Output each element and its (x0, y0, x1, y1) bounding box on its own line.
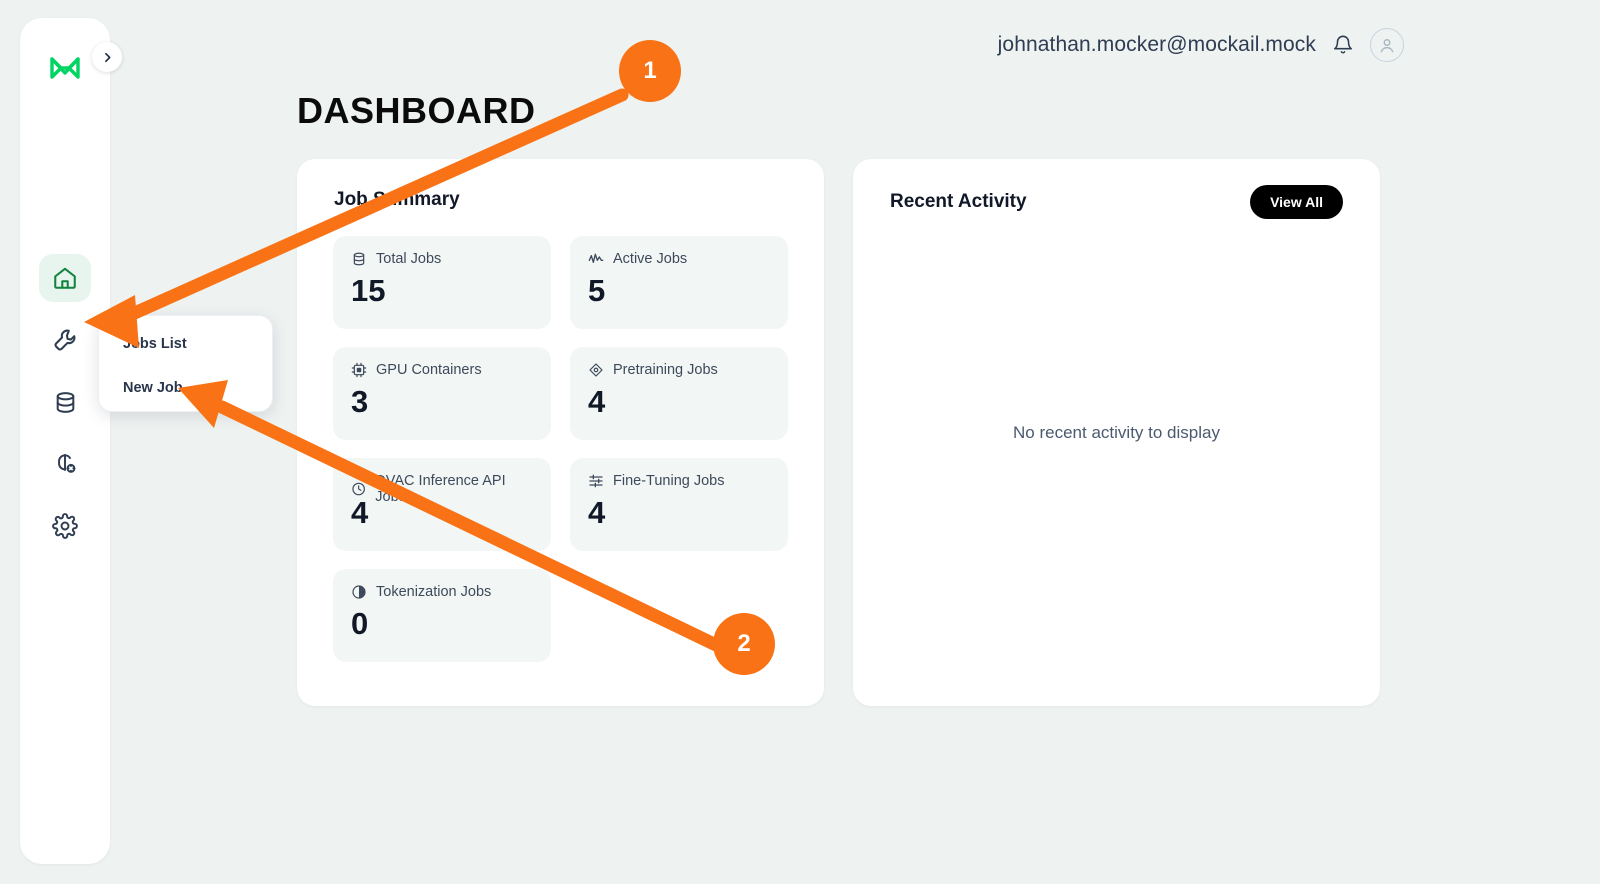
stat-tile-active-jobs: Active Jobs 5 (570, 236, 788, 329)
sliders-icon (588, 473, 604, 489)
stat-label: Total Jobs (376, 251, 441, 267)
stat-label: DVAC Inference API Jobs (375, 473, 533, 505)
chevron-right-icon (101, 51, 114, 64)
database-icon (53, 390, 78, 415)
home-icon (52, 265, 78, 291)
stat-label: Tokenization Jobs (376, 584, 491, 600)
jobs-dropdown-menu: Jobs List New Job (98, 315, 273, 412)
stat-tile-dvac-inference-api-jobs: DVAC Inference API Jobs 4 (333, 458, 551, 551)
stat-value: 4 (588, 386, 605, 417)
annotation-badge-2: 2 (713, 613, 775, 675)
half-circle-icon (351, 584, 367, 600)
stat-tile-pretraining-jobs: Pretraining Jobs 4 (570, 347, 788, 440)
sidebar-expand-button[interactable] (92, 42, 122, 72)
dashboard-page: johnathan.mocker@mockail.mock DASHBOARD … (0, 0, 1600, 884)
stat-tile-total-jobs: Total Jobs 15 (333, 236, 551, 329)
sidebar-nav (20, 254, 110, 564)
job-summary-title: Job Summary (334, 189, 460, 211)
jobs-list-menu-item[interactable]: Jobs List (99, 330, 272, 358)
page-title: DASHBOARD (297, 90, 536, 132)
stat-value: 4 (351, 497, 368, 528)
stat-value: 5 (588, 275, 605, 306)
stat-label: GPU Containers (376, 362, 482, 378)
stat-value: 3 (351, 386, 368, 417)
sidebar (20, 18, 110, 864)
sidebar-item-settings[interactable] (39, 502, 91, 550)
diamond-icon (588, 362, 604, 378)
gear-icon (52, 513, 78, 539)
notification-bell-button[interactable] (1332, 34, 1354, 56)
annotation-badge-1: 1 (619, 40, 681, 102)
stat-label: Fine-Tuning Jobs (613, 473, 725, 489)
stat-tile-tokenization-jobs: Tokenization Jobs 0 (333, 569, 551, 662)
new-job-menu-item[interactable]: New Job (99, 374, 272, 402)
job-stats-grid: Total Jobs 15 Active Jobs 5 (333, 236, 788, 662)
recent-activity-card: Recent Activity View All No recent activ… (853, 159, 1380, 706)
wrench-icon (52, 327, 78, 353)
sidebar-item-jobs[interactable] (39, 316, 91, 364)
activity-pulse-icon (588, 251, 604, 267)
top-header: johnathan.mocker@mockail.mock (998, 28, 1404, 62)
user-email: johnathan.mocker@mockail.mock (998, 33, 1316, 57)
database-stack-icon (351, 251, 367, 267)
infinity-logo-icon (48, 56, 82, 80)
stat-value: 0 (351, 608, 368, 639)
sidebar-item-data[interactable] (39, 378, 91, 426)
user-avatar-icon (1377, 35, 1397, 55)
stat-tile-gpu-containers: GPU Containers 3 (333, 347, 551, 440)
cpu-chip-icon (351, 362, 367, 378)
bell-icon (1332, 34, 1354, 56)
stat-value: 15 (351, 275, 385, 306)
stat-label: Active Jobs (613, 251, 687, 267)
user-avatar-button[interactable] (1370, 28, 1404, 62)
brain-gear-icon (52, 451, 78, 477)
stat-tile-fine-tuning-jobs: Fine-Tuning Jobs 4 (570, 458, 788, 551)
activity-empty-state: No recent activity to display (853, 159, 1380, 706)
stat-value: 4 (588, 497, 605, 528)
sidebar-item-home[interactable] (39, 254, 91, 302)
sidebar-item-models[interactable] (39, 440, 91, 488)
stat-label: Pretraining Jobs (613, 362, 718, 378)
